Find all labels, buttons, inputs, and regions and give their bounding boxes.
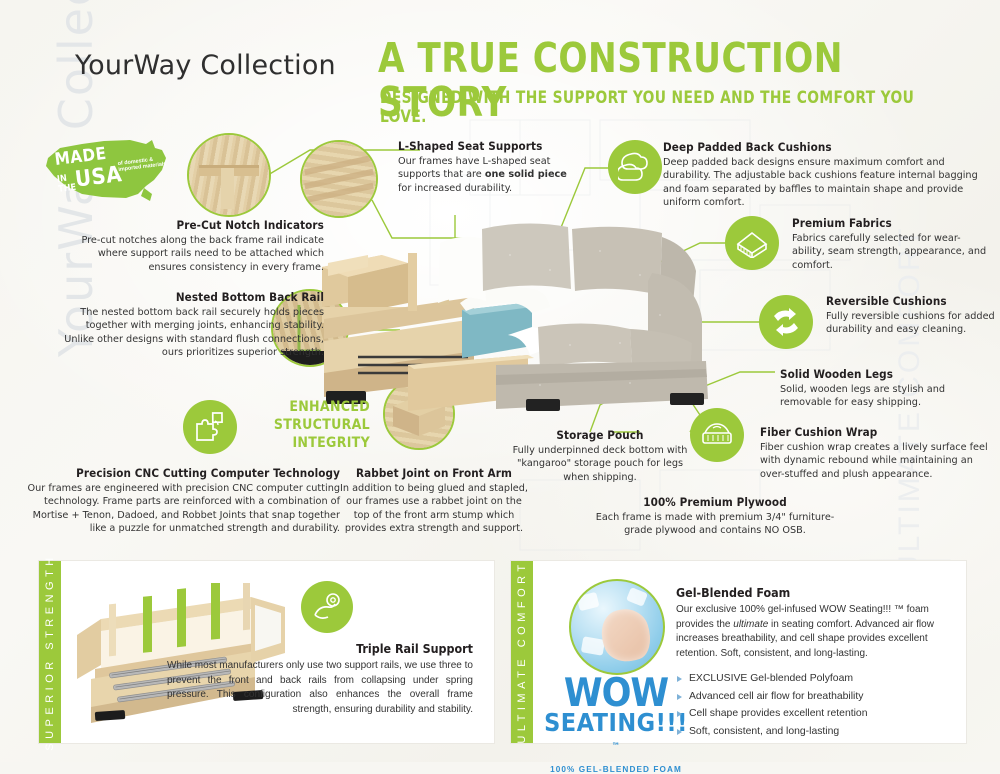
callout-precision-cnc-cutting: Precision CNC Cutting Computer Technolog…: [22, 466, 340, 536]
callout-body: The nested bottom back rail securely hol…: [60, 306, 324, 360]
callout-body: Pre-cut notches along the back frame rai…: [58, 234, 324, 274]
fiber-cushion-icon: [699, 419, 735, 451]
callout-body: Fabrics carefully selected for wear-abil…: [792, 232, 992, 272]
reversible-arrows-icon: [769, 305, 803, 339]
callout-title: Rabbet Joint on Front Arm: [340, 466, 528, 480]
callout-nested-bottom-back-rail: Nested Bottom Back Rail The nested botto…: [60, 290, 324, 360]
callout-body: Fully reversible cushions for added dura…: [826, 310, 1000, 337]
panel-tab-label: SUPERIOR STRENGTH: [44, 553, 56, 751]
panel-tab-ultimate-comfort: ULTIMATE COMFORT: [511, 561, 533, 743]
gel-foam-title: Gel-Blended Foam: [676, 585, 948, 600]
gel-foam-body: Our exclusive 100% gel-infused WOW Seati…: [676, 603, 948, 661]
callout-body: Fully underpinned deck bottom with "kang…: [510, 444, 690, 484]
triple-rail-body: While most manufacturers only use two su…: [167, 659, 473, 717]
callout-body: Our frames have L-shaped seatsupports th…: [398, 155, 598, 195]
gel-foam-photo: [569, 579, 665, 675]
list-item: Advanced cell air flow for breathability: [676, 688, 948, 706]
muscle-arm-icon: [311, 591, 343, 623]
list-item: Soft, consistent, and long-lasting: [676, 723, 948, 741]
esi-line-3: INTEGRITY: [292, 435, 370, 451]
callout-solid-wooden-legs: Solid Wooden Legs Solid, wooden legs are…: [780, 367, 995, 410]
usa-badge-text: MADE INTHE USA: [54, 142, 124, 195]
panel-superior-strength: SUPERIOR STRENGTH: [38, 560, 495, 744]
callout-storage-pouch: Storage Pouch Fully underpinned deck bot…: [510, 428, 690, 484]
icon-enhanced-structural-integrity: [183, 400, 237, 454]
callout-title: Nested Bottom Back Rail: [60, 290, 324, 304]
callout-title: Fiber Cushion Wrap: [760, 425, 995, 439]
callout-title: L-Shaped Seat Supports: [398, 139, 598, 153]
photo-l-shaped-support: [300, 140, 378, 218]
callout-body: Each frame is made with premium 3/4" fur…: [590, 511, 840, 538]
icon-triple-rail-support: [301, 581, 353, 633]
callout-title: 100% Premium Plywood: [590, 495, 840, 509]
esi-line-1: ENHANCED: [289, 399, 370, 415]
callout-l-shaped-seat-supports: L-Shaped Seat Supports Our frames have L…: [398, 139, 598, 195]
callout-deep-padded-back-cushions: Deep Padded Back Cushions Deep padded ba…: [663, 140, 988, 210]
callout-rabbet-joint-front-arm: Rabbet Joint on Front Arm In addition to…: [340, 466, 528, 536]
callout-premium-fabrics: Premium Fabrics Fabrics carefully select…: [792, 216, 992, 272]
callout-fiber-cushion-wrap: Fiber Cushion Wrap Fiber cushion wrap cr…: [760, 425, 995, 481]
made-in-usa-badge: MADE INTHE USA of domestic & imported ma…: [42, 136, 170, 202]
wow-logo-word: WOW: [541, 677, 691, 710]
callout-title: Pre-Cut Notch Indicators: [58, 218, 324, 232]
gel-foam-bullets: EXCLUSIVE Gel-blended Polyfoam Advanced …: [676, 670, 948, 740]
callout-pre-cut-notch-indicators: Pre-Cut Notch Indicators Pre-cut notches…: [58, 218, 324, 274]
photo-pre-cut-notch: [187, 133, 271, 217]
callout-title: Premium Fabrics: [792, 216, 992, 230]
panel-ultimate-comfort: ULTIMATE COMFORT WOW SEATING!!!™ 100% GE…: [510, 560, 967, 744]
fabric-swatch-icon: [734, 228, 770, 258]
panel-tab-superior-strength: SUPERIOR STRENGTH: [39, 561, 61, 743]
callout-title: Precision CNC Cutting Computer Technolog…: [22, 466, 340, 480]
triple-rail-title: Triple Rail Support: [167, 641, 473, 656]
brand-title: YourWay Collection: [75, 50, 336, 81]
callout-title: Deep Padded Back Cushions: [663, 140, 988, 154]
icon-deep-padded-back-cushions: [608, 140, 662, 194]
esi-line-2: STRUCTURAL: [274, 417, 370, 433]
callout-body: Our frames are engineered with precision…: [22, 482, 340, 536]
icon-fiber-cushion-wrap: [690, 408, 744, 462]
callout-body: Deep padded back designs ensure maximum …: [663, 156, 988, 210]
callout-title: Reversible Cushions: [826, 294, 1000, 308]
enhanced-structural-integrity-label: ENHANCED STRUCTURAL INTEGRITY: [250, 398, 370, 452]
wow-logo-tagline: 100% GEL-BLENDED FOAM: [541, 765, 691, 774]
callout-title: Storage Pouch: [510, 428, 690, 442]
icon-reversible-cushions: [759, 295, 813, 349]
puzzle-icon: [193, 410, 227, 444]
callout-body: In addition to being glued and stapled, …: [340, 482, 528, 536]
callout-body: Solid, wooden legs are stylish and remov…: [780, 383, 995, 410]
icon-premium-fabrics: [725, 216, 779, 270]
callout-reversible-cushions: Reversible Cushions Fully reversible cus…: [826, 294, 1000, 337]
list-item: Cell shape provides excellent retention: [676, 705, 948, 723]
callout-title: Solid Wooden Legs: [780, 367, 995, 381]
page-subtitle: DESIGNED WITH THE SUPPORT YOU NEED AND T…: [380, 88, 957, 126]
list-item: EXCLUSIVE Gel-blended Polyfoam: [676, 670, 948, 688]
callout-body: Fiber cushion wrap creates a lively surf…: [760, 441, 995, 481]
wow-logo-seating: SEATING!!!™: [541, 710, 691, 762]
wow-seating-logo: WOW SEATING!!!™ 100% GEL-BLENDED FOAM: [541, 677, 691, 774]
panel-tab-label: ULTIMATE COMFORT: [516, 560, 528, 743]
callout-premium-plywood: 100% Premium Plywood Each frame is made …: [590, 495, 840, 538]
cushions-icon: [618, 152, 652, 182]
